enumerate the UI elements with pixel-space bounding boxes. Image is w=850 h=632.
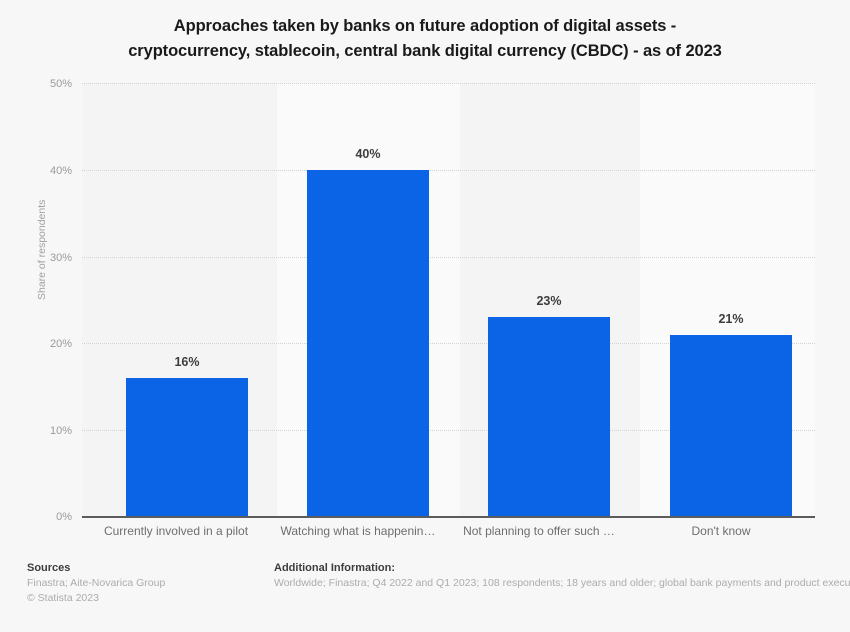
footer-sources-block: Sources Finastra; Aite-Novarica Group © … — [27, 560, 262, 606]
footer-additional-block: Additional Information: Worldwide; Finas… — [274, 560, 850, 591]
chart-title-line-1: Approaches taken by banks on future adop… — [60, 14, 790, 39]
sources-text: Finastra; Aite-Novarica Group — [27, 576, 262, 591]
y-axis-tick-label: 40% — [50, 165, 72, 177]
additional-information-heading: Additional Information: — [274, 560, 850, 576]
chart-footer: Sources Finastra; Aite-Novarica Group © … — [0, 556, 850, 632]
y-axis-tick-label: 20% — [50, 338, 72, 350]
y-axis-title: Share of respondents — [36, 200, 48, 300]
bar[interactable]: 23% — [488, 317, 610, 517]
additional-information-text: Worldwide; Finastra; Q4 2022 and Q1 2023… — [274, 576, 850, 591]
chart-container: Approaches taken by banks on future adop… — [0, 0, 850, 632]
bars-layer: 16% 40% 23% 21% — [82, 83, 815, 517]
sources-heading: Sources — [27, 560, 262, 576]
bar[interactable]: 40% — [307, 170, 429, 517]
bar-value-label: 21% — [670, 312, 792, 326]
x-axis-line — [82, 516, 815, 518]
bar-value-label: 16% — [126, 355, 248, 369]
bar-value-label: 23% — [488, 294, 610, 308]
y-axis-tick-label: 30% — [50, 252, 72, 264]
copyright-text: © Statista 2023 — [27, 591, 262, 606]
bar-value-label: 40% — [307, 147, 429, 161]
chart-title-line-2: cryptocurrency, stablecoin, central bank… — [60, 39, 790, 64]
chart-title: Approaches taken by banks on future adop… — [60, 14, 790, 64]
y-axis-tick-label: 10% — [50, 425, 72, 437]
y-axis-tick-label: 50% — [50, 78, 72, 90]
plot-area: 50% 40% 30% 20% 10% 0% 16% 40% — [82, 83, 815, 517]
bar[interactable]: 21% — [670, 335, 792, 517]
y-axis-tick-label: 0% — [56, 511, 72, 523]
x-axis-label: Don't know — [611, 524, 831, 538]
bar[interactable]: 16% — [126, 378, 248, 517]
